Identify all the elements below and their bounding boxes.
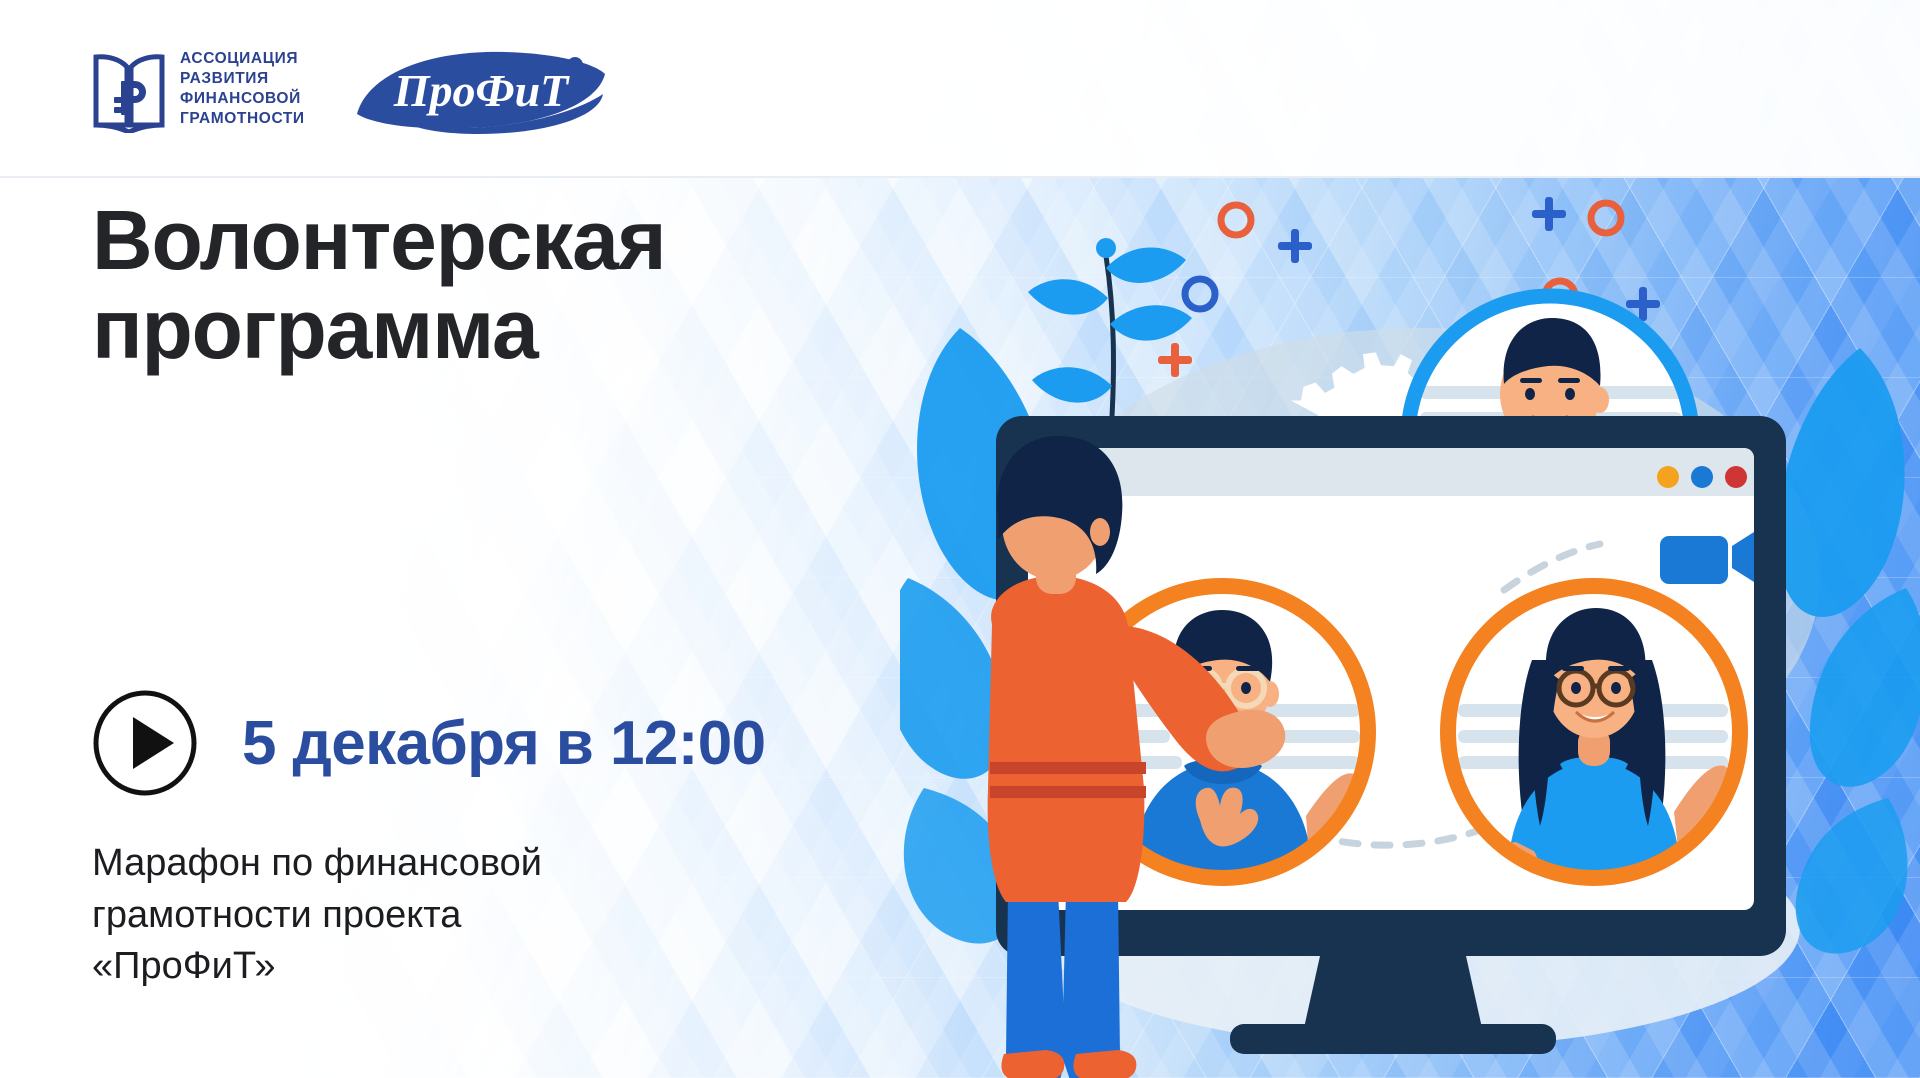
profit-logo: ПроФиТ xyxy=(347,44,613,134)
window-dots xyxy=(1657,466,1747,488)
headline-line-1: Волонтерская xyxy=(92,196,912,285)
headline-block: Волонтерская программа xyxy=(92,196,912,374)
decor-plus-3 xyxy=(1532,197,1566,231)
profit-swoosh-logo: ПроФиТ xyxy=(347,44,613,134)
book-ruble-icon xyxy=(92,45,166,133)
headline-line-2: программа xyxy=(92,285,912,374)
association-line-4: ГРАМОТНОСТИ xyxy=(180,109,305,129)
description-line-2: грамотности проекта xyxy=(92,890,732,942)
event-description: Марафон по финансовой грамотности проект… xyxy=(92,838,732,993)
illustration-canvas xyxy=(900,148,1920,1078)
association-logo: АССОЦИАЦИЯ РАЗВИТИЯ ФИНАНСОВОЙ ГРАМОТНОС… xyxy=(92,45,305,133)
description-line-1: Марафон по финансовой xyxy=(92,838,732,890)
association-logo-text: АССОЦИАЦИЯ РАЗВИТИЯ ФИНАНСОВОЙ ГРАМОТНОС… xyxy=(180,49,305,128)
event-date-row: 5 декабря в 12:00 xyxy=(92,690,766,796)
video-conference-illustration xyxy=(900,148,1920,1078)
banner-stage: АССОЦИАЦИЯ РАЗВИТИЯ ФИНАНСОВОЙ ГРАМОТНОС… xyxy=(0,0,1920,1078)
decor-ring-1 xyxy=(1221,205,1251,235)
decor-ring-2 xyxy=(1185,279,1215,309)
decor-plus-2 xyxy=(1158,343,1192,377)
play-circle-icon[interactable] xyxy=(92,690,198,796)
association-line-3: ФИНАНСОВОЙ xyxy=(180,89,305,109)
profit-logo-text: ПроФиТ xyxy=(392,65,569,116)
description-line-3: «ПроФиТ» xyxy=(92,941,732,993)
banner-header: АССОЦИАЦИЯ РАЗВИТИЯ ФИНАНСОВОЙ ГРАМОТНОС… xyxy=(0,0,1920,178)
decor-ring-3 xyxy=(1591,203,1621,233)
event-date-text: 5 декабря в 12:00 xyxy=(242,708,766,779)
page-title: Волонтерская программа xyxy=(92,196,912,374)
association-line-2: РАЗВИТИЯ xyxy=(180,69,305,89)
association-line-1: АССОЦИАЦИЯ xyxy=(180,49,305,69)
decor-plus-1 xyxy=(1278,229,1312,263)
